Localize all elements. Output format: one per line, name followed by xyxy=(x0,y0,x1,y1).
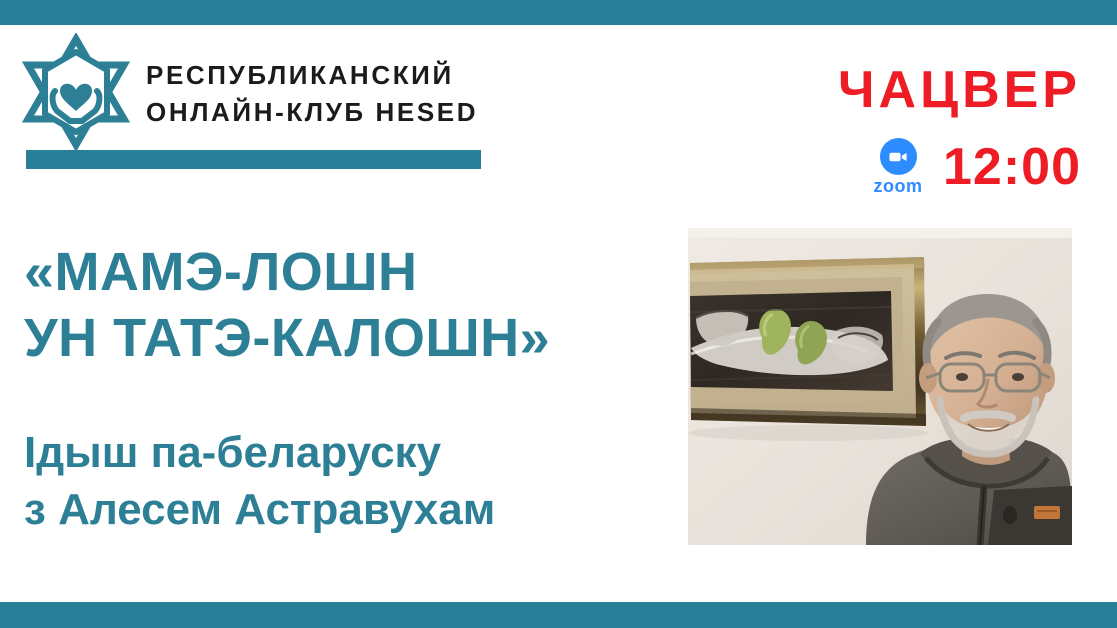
zoom-logo: zoom xyxy=(867,138,929,196)
event-title: «МАМЭ-ЛОШН УН ТАТЭ-КАЛОШН» xyxy=(24,239,550,371)
star-of-david-heart-hands-icon xyxy=(22,33,130,151)
club-name: РЕСПУБЛИКАНСКИЙ ОНЛАЙН-КЛУБ HESED xyxy=(146,57,478,131)
event-time: 12:00 xyxy=(943,140,1081,194)
event-subtitle: Ідыш па-беларуску з Алесем Астравухам xyxy=(24,424,495,538)
header-divider-bar xyxy=(26,150,481,169)
event-title-line1: «МАМЭ-ЛОШН xyxy=(24,239,550,305)
speaker-photo xyxy=(688,228,1072,545)
event-title-line2: УН ТАТЭ-КАЛОШН» xyxy=(24,305,550,371)
weekday-label: ЧАЦВЕР xyxy=(838,63,1081,117)
schedule-time-row: zoom 12:00 xyxy=(867,138,1081,196)
event-subtitle-line1: Ідыш па-беларуску xyxy=(24,424,495,481)
club-name-line2: ОНЛАЙН-КЛУБ HESED xyxy=(146,94,478,131)
event-subtitle-line2: з Алесем Астравухам xyxy=(24,481,495,538)
zoom-camera-icon xyxy=(880,138,917,175)
club-name-line1: РЕСПУБЛИКАНСКИЙ xyxy=(146,60,454,90)
top-accent-bar xyxy=(0,0,1117,25)
poster-canvas: РЕСПУБЛИКАНСКИЙ ОНЛАЙН-КЛУБ HESED ЧАЦВЕР… xyxy=(0,0,1117,628)
bottom-accent-bar xyxy=(0,602,1117,628)
zoom-wordmark: zoom xyxy=(874,176,923,196)
speaker-photo-image xyxy=(688,228,1072,545)
